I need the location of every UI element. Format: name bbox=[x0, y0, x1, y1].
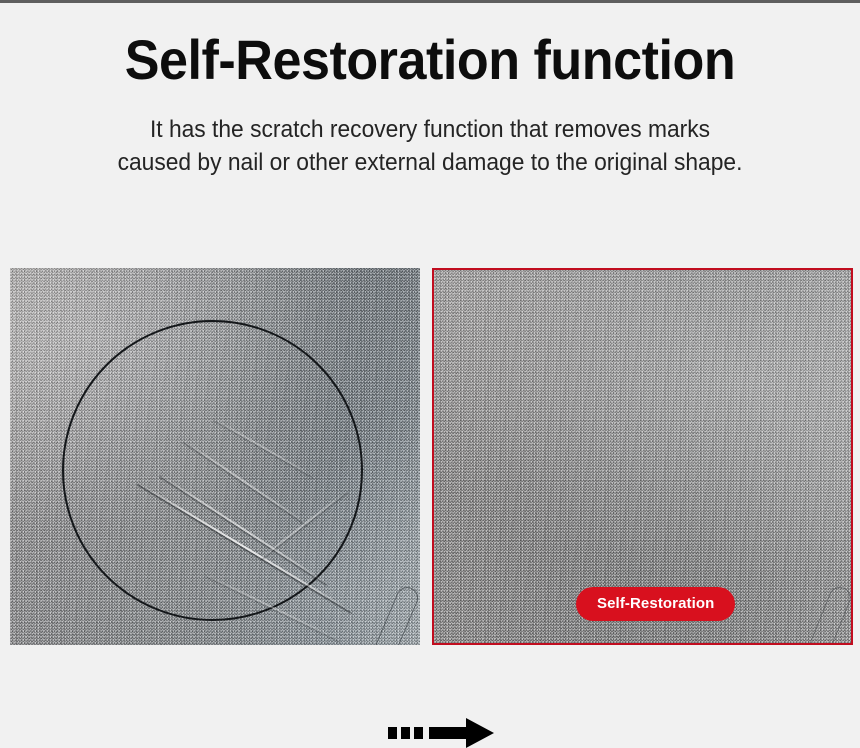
page-subtitle: It has the scratch recovery function tha… bbox=[22, 91, 839, 179]
status-badge: Self-Restoration bbox=[576, 587, 735, 621]
scratch-mark bbox=[214, 418, 315, 477]
scratch-mark bbox=[159, 474, 328, 585]
before-image-panel bbox=[10, 268, 420, 645]
page-title: Self-Restoration function bbox=[30, 3, 830, 91]
header-block: Self-Restoration function It has the scr… bbox=[0, 3, 860, 179]
comparison-panels: Self-Restoration bbox=[10, 268, 853, 645]
transition-arrow-icon bbox=[388, 718, 494, 748]
subtitle-line-1: It has the scratch recovery function tha… bbox=[22, 113, 839, 146]
after-image-panel: Self-Restoration bbox=[432, 268, 853, 645]
subtitle-line-2: caused by nail or other external damage … bbox=[22, 146, 839, 179]
scratch-highlight-circle bbox=[62, 320, 363, 621]
scratch-mark bbox=[183, 440, 308, 526]
